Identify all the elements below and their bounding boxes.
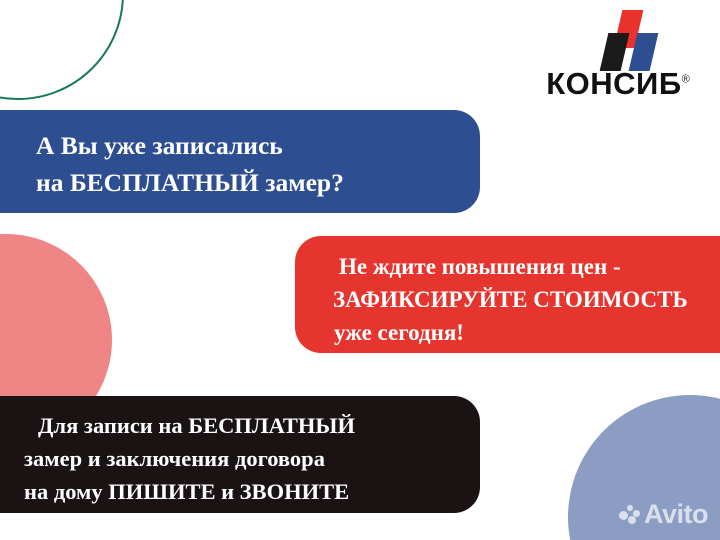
brand-logo: КОНСИБ® [530,8,706,108]
banner-black-line-1: Для записи на БЕСПЛАТНЫЙ [24,409,480,442]
banner-black-line-2: замер и заключения договора [24,442,480,475]
banner-black: Для записи на БЕСПЛАТНЫЙ замер и заключе… [0,396,480,513]
banner-blue-line-1: А Вы уже записались [36,127,480,164]
brand-name: КОНСИБ® [530,66,706,102]
logo-mark-icon [592,8,662,70]
avito-dots-icon [619,505,640,524]
banner-blue: А Вы уже записались на БЕСПЛАТНЫЙ замер? [0,110,480,213]
banner-red-line-3: уже сегодня! [333,316,720,349]
banner-black-line-3: на дому ПИШИТЕ и ЗВОНИТЕ [24,475,480,508]
banner-red-line-1: Не ждите повышения цен - [333,250,720,283]
brand-name-text: КОНСИБ [546,66,681,101]
green-ring-shape [0,0,124,100]
avito-watermark: Avito [619,501,708,528]
banner-red-line-2: ЗАФИКСИРУЙТЕ СТОИМОСТЬ [333,283,720,316]
registered-mark: ® [682,74,690,86]
banner-red: Не ждите повышения цен - ЗАФИКСИРУЙТЕ СТ… [295,236,720,353]
advertisement-canvas: КОНСИБ® А Вы уже записались на БЕСПЛАТНЫ… [0,0,720,540]
banner-blue-line-2: на БЕСПЛАТНЫЙ замер? [36,164,480,201]
avito-watermark-label: Avito [644,501,708,528]
